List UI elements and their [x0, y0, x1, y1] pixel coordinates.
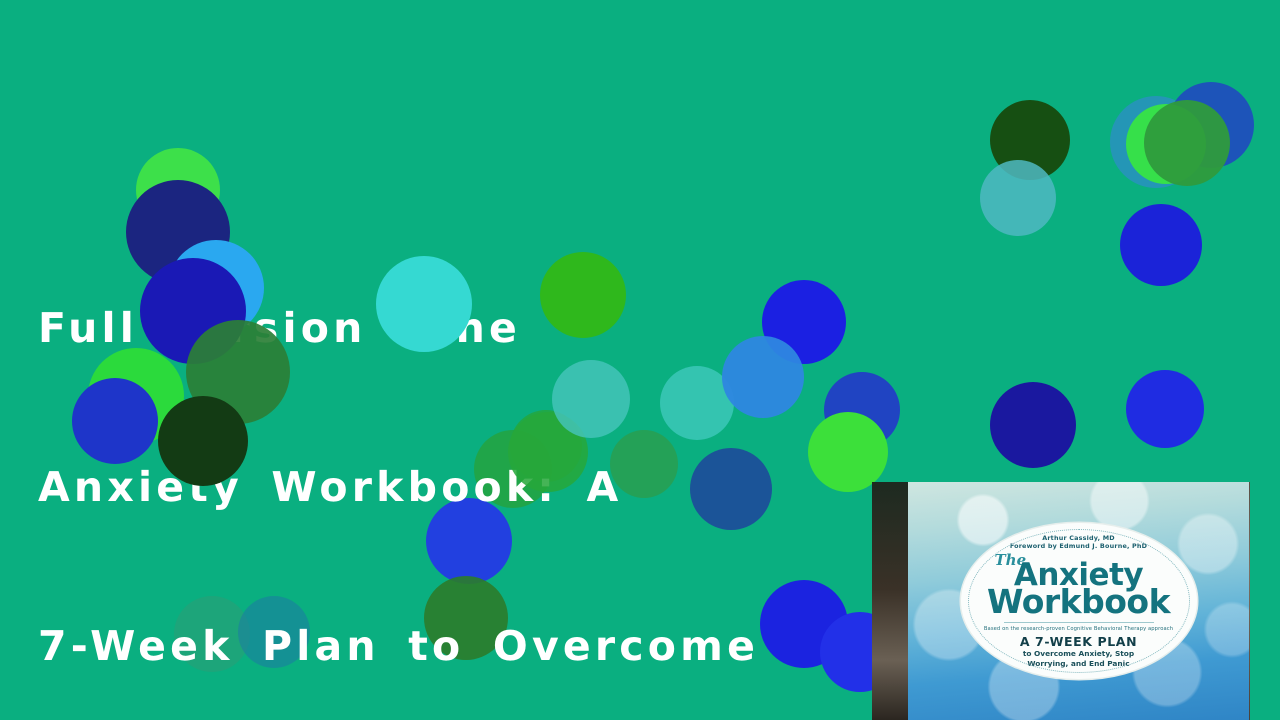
bubble-green-right-top — [1144, 100, 1230, 186]
cover-author-line: Arthur Cassidy, MDForeword by Edmund J. … — [1010, 534, 1147, 550]
bubble-dark-green-right-top — [990, 100, 1070, 180]
cover-plan-line: A 7-WEEK PLAN — [1020, 635, 1137, 649]
bubble-blue-right-topright — [1168, 82, 1254, 168]
book-cover-thumbnail: Arthur Cassidy, MDForeword by Edmund J. … — [872, 482, 1250, 720]
promo-image-canvas: Full version The Anxiety Workbook: A 7-W… — [0, 0, 1280, 720]
cover-oval-badge: Arthur Cassidy, MDForeword by Edmund J. … — [961, 523, 1197, 679]
cover-divider-rule — [1004, 622, 1154, 623]
book-spine-shadow — [872, 482, 908, 720]
title-line-1: Full version The — [38, 302, 1242, 355]
cover-subtitle: to Overcome Anxiety, StopWorrying, and E… — [1023, 649, 1134, 668]
cover-title-workbook: Workbook — [987, 587, 1170, 617]
bubble-lime-right-top — [1126, 104, 1206, 184]
book-front-cover: Arthur Cassidy, MDForeword by Edmund J. … — [908, 482, 1249, 720]
cover-tagline: Based on the research-proven Cognitive B… — [984, 626, 1173, 632]
bubble-steel-blue-right-top — [1110, 96, 1202, 188]
